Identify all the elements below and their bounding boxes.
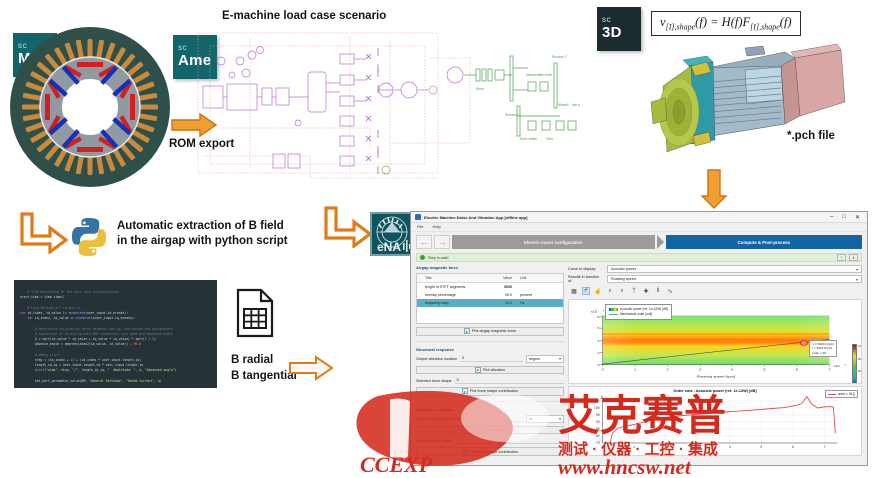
heatmap-legend: Acoustic power (ref. 1e-12W) [dB] Mechan… xyxy=(605,304,672,320)
zoom-in-icon[interactable]: ⌕ xyxy=(606,287,614,295)
close-button[interactable]: ✕ xyxy=(855,214,860,221)
table-header: Title Value Unit xyxy=(417,274,563,283)
pan-icon[interactable]: ☝ xyxy=(594,287,602,295)
heatmap-colorbar xyxy=(852,344,857,384)
table-row[interactable]: frequency step 10.0 Hz xyxy=(417,299,563,307)
python-caption-line2: in the airgap with python script xyxy=(117,234,288,249)
play-icon: ▸ xyxy=(464,328,470,334)
motor-3d-model xyxy=(645,40,865,160)
pch-down-arrow-icon xyxy=(700,168,728,210)
status-actions[interactable]: ? ℹ xyxy=(837,254,858,261)
svg-text:95: 95 xyxy=(596,413,600,417)
svg-text:100: 100 xyxy=(594,406,600,410)
results-in-function-of-row: Results in function of: Rotating speed ▾ xyxy=(568,275,862,283)
plot-airgap-label: Plot airgap magnetic force xyxy=(472,329,516,333)
b-tangential-label: B tangential xyxy=(231,368,297,384)
order-cuts-legend: order = 36 [] xyxy=(825,390,858,398)
structural-shape-label: Selected force shape xyxy=(416,379,452,383)
results-in-function-of-value: Rotating speed xyxy=(611,277,636,281)
amesim-schematic: Rotor Reducer 1 Intermediate shaft Reduc… xyxy=(190,28,580,188)
structural-section-title: Structural response xyxy=(416,347,564,352)
distance-from-stator-row: Distance from stator surface 1 m ▾ xyxy=(416,415,564,423)
results-in-function-of-select[interactable]: Rotating speed ▾ xyxy=(607,275,862,283)
svg-text:7: 7 xyxy=(828,368,830,371)
status-bar: Step is valid ? ℹ xyxy=(416,253,862,262)
order-cuts-ylabel: [] xyxy=(601,395,603,399)
distance-from-stator-label: Distance from stator surface xyxy=(416,417,463,421)
svg-text:3: 3 xyxy=(699,368,701,371)
equation-text: v[I],shape(f) = H(f)F[I],shape(f) xyxy=(660,15,792,29)
svg-text:1: 1 xyxy=(634,368,636,371)
legend-swatch-line xyxy=(609,314,618,315)
svg-text:Reducer 2: Reducer 2 xyxy=(552,55,567,59)
measure-icon[interactable]: ∿ xyxy=(666,287,674,295)
structural-shape-button-label: Plot force shape contribution xyxy=(470,389,518,393)
app-window: Electric Machine Noise And Vibration App… xyxy=(410,211,868,466)
distance-from-stator-input[interactable]: 1 xyxy=(466,415,523,422)
x-axis-exponent: x10 xyxy=(833,364,839,367)
legend-label: order = 36 [] xyxy=(838,392,855,396)
app-icon xyxy=(415,214,421,220)
order-cuts-canvas: 10510095 908580 75 012 345 67 [] xyxy=(569,393,861,449)
row-unit: Hz xyxy=(515,299,563,307)
svg-text:8: 8 xyxy=(597,315,599,318)
emachine-title: E-machine load case scenario xyxy=(222,10,386,22)
svg-text:5: 5 xyxy=(760,445,762,449)
play-icon: ▸ xyxy=(462,388,468,394)
row-title: overlap percentage xyxy=(417,291,487,299)
y-axis-exponent: x10 xyxy=(591,310,597,313)
results-in-function-of-label: Results in function of: xyxy=(568,275,604,283)
svg-text:Tires: Tires xyxy=(546,137,553,141)
app-title: Electric Machine Noise And Vibration App… xyxy=(424,215,527,220)
acoustic-shape-label: Selected force shape xyxy=(416,439,452,443)
colorbar-tick: 80 xyxy=(858,365,862,378)
acoustic-plot-force-shape-contribution-button[interactable]: ▸ Plot force shape contribution xyxy=(416,447,564,456)
order-36-line xyxy=(610,397,835,443)
airgap-section-title: Airgap magnetic force xyxy=(416,265,564,270)
header-title: Title xyxy=(417,274,487,282)
plot-airgap-magnetic-force-button[interactable]: ▸ Plot airgap magnetic force xyxy=(416,327,564,336)
logo-simcenter-3d: SC 3D xyxy=(597,7,641,51)
right-results-panel: Curve to display: Acoustic power ▾ Resul… xyxy=(568,265,862,456)
row-unit: percent xyxy=(515,291,563,299)
vibration-unit-select[interactable]: degree ▾ xyxy=(526,355,564,363)
heatmap-xlabel: Rotating speed [rpm] xyxy=(697,375,735,378)
chevron-down-icon: ▾ xyxy=(856,277,858,282)
svg-text:6: 6 xyxy=(597,327,599,330)
row-title: frequency step xyxy=(417,299,487,307)
svg-text:2: 2 xyxy=(597,351,599,354)
svg-text:3: 3 xyxy=(844,364,846,366)
svg-text:Reducer 1: Reducer 1 xyxy=(505,113,520,117)
colorbar-tick: 90 xyxy=(858,353,862,366)
svg-text:105: 105 xyxy=(594,399,600,403)
minimize-button[interactable]: – xyxy=(830,214,833,220)
legend-swatch-line xyxy=(828,394,836,395)
svg-text:7: 7 xyxy=(824,445,826,449)
acoustic-unit-value: m xyxy=(529,417,532,421)
acoustic-unit-select[interactable]: m ▾ xyxy=(526,415,564,423)
step-electric-motor-configuration[interactable]: Electric motor configuration xyxy=(452,235,655,249)
menu-help[interactable]: Help xyxy=(432,224,440,230)
rom-export-label: ROM export xyxy=(169,138,234,150)
plot-vibration-button[interactable]: ▸ Plot vibration xyxy=(416,366,564,375)
data-table-file-icon xyxy=(235,288,275,338)
svg-text:test bench load: test bench load xyxy=(572,103,580,107)
colorbar-ticks: 100 90 80 70 xyxy=(858,340,862,384)
select-icon[interactable]: ⌿ xyxy=(582,287,590,295)
svg-text:85: 85 xyxy=(596,427,600,431)
vibration-unit-value: degree xyxy=(529,357,540,361)
legend-entry: Mechanical order [null] xyxy=(609,312,668,317)
data-cursor-tooltip: x = 6649.0 [rpm] f = 4010.0 [Hz] order =… xyxy=(809,340,837,357)
svg-text:0: 0 xyxy=(602,445,604,449)
data-cursor-marker xyxy=(800,341,807,346)
curve-to-display-label: Curve to display: xyxy=(568,267,604,271)
chevron-down-icon: ▾ xyxy=(559,356,561,361)
app-body: Airgap magnetic force Title Value Unit l… xyxy=(411,264,867,460)
svg-text:2: 2 xyxy=(665,445,667,449)
svg-text:0: 0 xyxy=(601,368,603,371)
svg-text:Drive shafts: Drive shafts xyxy=(520,137,537,141)
output-vibration-location-input[interactable]: 0 xyxy=(460,355,523,362)
step-compute-post-process[interactable]: Compute & Post-process xyxy=(666,235,862,249)
info-button[interactable]: ℹ xyxy=(849,254,858,261)
step-separator-icon xyxy=(657,235,664,249)
chevron-down-icon: ▾ xyxy=(559,416,561,421)
b-field-to-app-arrow-icon xyxy=(288,355,334,381)
acoustic-shape-button-label: Plot force shape contribution xyxy=(470,450,518,454)
svg-text:3: 3 xyxy=(696,445,698,449)
acoustic-selected-force-shape-row: Selected force shape 0 xyxy=(416,437,564,444)
colorbar-tick: 70 xyxy=(858,378,862,385)
structural-shape-input[interactable]: 0 xyxy=(455,377,564,384)
svg-text:Intermediate shaft: Intermediate shaft xyxy=(526,73,552,77)
output-vibration-location-label: Output vibration location xyxy=(416,357,457,361)
curve-to-display-select[interactable]: Acoustic power ▾ xyxy=(607,265,862,273)
play-icon: ▸ xyxy=(462,449,468,455)
grid-icon[interactable]: ▦ xyxy=(570,287,578,295)
row-unit xyxy=(515,283,563,291)
svg-text:4: 4 xyxy=(731,368,733,371)
app-titlebar: Electric Machine Noise And Vibration App… xyxy=(411,212,867,223)
forward-button[interactable]: → xyxy=(434,235,450,249)
svg-text:Wheels: Wheels xyxy=(558,103,569,107)
transfer-function-equation: v[I],shape(f) = H(f)F[I],shape(f) xyxy=(651,11,801,36)
svg-text:0: 0 xyxy=(597,363,599,366)
row-title: length of STFT segments xyxy=(417,283,487,291)
wizard-nav: ← → Electric motor configuration Compute… xyxy=(411,232,867,251)
cursor-icon[interactable]: † xyxy=(630,287,638,295)
chevron-down-icon: ▾ xyxy=(856,267,858,272)
airgap-parameter-table: Title Value Unit length of STFT segments… xyxy=(416,273,564,324)
svg-text:75: 75 xyxy=(596,441,600,445)
python-hook-arrow-icon xyxy=(20,212,68,254)
pch-file-label: *.pch file xyxy=(787,130,835,142)
logo-3d-name: 3D xyxy=(602,25,641,41)
python-caption: Automatic extraction of B field in the a… xyxy=(117,219,288,249)
back-button[interactable]: ← xyxy=(416,235,432,249)
menu-file[interactable]: File xyxy=(417,224,423,230)
motor-cross-section xyxy=(8,25,173,190)
window-controls[interactable]: – □ ✕ xyxy=(830,214,863,221)
row-value[interactable]: 90.0 xyxy=(487,291,515,299)
svg-text:2: 2 xyxy=(667,368,669,371)
svg-text:1: 1 xyxy=(633,445,635,449)
python-code-block: # Time monitoring of the main loop initi… xyxy=(14,280,217,388)
header-value: Value xyxy=(487,274,515,282)
axis-icon[interactable]: ‖ xyxy=(654,287,662,295)
play-icon: ▸ xyxy=(475,427,481,433)
colorbar-tick: 100 xyxy=(858,340,862,353)
structural-selected-force-shape-row: Selected force shape 0 xyxy=(416,377,564,384)
play-icon: ▸ xyxy=(475,367,481,373)
b-field-labels: B radial B tangential xyxy=(231,352,297,384)
order-cuts-plot[interactable]: Order cuts - Acoustic power (ref. 1e-12W… xyxy=(568,386,862,456)
curve-to-display-row: Curve to display: Acoustic power ▾ xyxy=(568,265,862,273)
python-logo-icon xyxy=(68,216,110,258)
structural-plot-force-shape-contribution-button[interactable]: ▸ Plot force shape contribution xyxy=(416,387,564,396)
header-unit: Unit xyxy=(515,274,563,282)
table-row[interactable]: overlap percentage 90.0 percent xyxy=(417,291,563,299)
svg-text:4: 4 xyxy=(729,445,731,449)
svg-text:4: 4 xyxy=(597,339,599,342)
legend-label: Mechanical order [null] xyxy=(620,312,652,317)
table-row[interactable]: length of STFT segments 3000 xyxy=(417,283,563,291)
status-text: Step is valid xyxy=(428,256,448,260)
svg-text:Rotor: Rotor xyxy=(476,87,485,91)
plot-toolbar[interactable]: ▦ ⌿ ☝ ⌕ ⌕ † ✚ ‖ ∿ xyxy=(568,285,862,297)
plot-acoustic-button[interactable]: ▸ Plot acoustic xyxy=(416,426,564,435)
status-ok-icon xyxy=(420,255,425,260)
maximize-button[interactable]: □ xyxy=(842,214,846,220)
app-menubar[interactable]: File Help xyxy=(411,223,867,232)
rom-export-arrow-icon xyxy=(170,112,218,138)
b-radial-label: B radial xyxy=(231,352,297,368)
python-caption-line1: Automatic extraction of B field xyxy=(117,219,288,234)
help-button[interactable]: ? xyxy=(837,254,846,261)
acoustic-shape-input[interactable]: 0 xyxy=(455,437,564,444)
row-value[interactable]: 10.0 xyxy=(487,299,515,307)
svg-text:6: 6 xyxy=(792,445,794,449)
tooltip-order: order = 36 xyxy=(812,351,834,355)
plot-acoustic-label: Plot acoustic xyxy=(483,428,505,432)
output-vibration-location-row: Output vibration location 0 degree ▾ xyxy=(416,355,564,363)
row-value[interactable]: 3000 xyxy=(487,283,515,291)
curve-to-display-value: Acoustic power xyxy=(611,267,636,271)
logo-ena-text: eNA xyxy=(377,240,401,254)
logo-ena: eNA xyxy=(370,212,414,256)
legend-swatch-colormap xyxy=(609,308,618,311)
crosshair-icon[interactable]: ✚ xyxy=(642,287,650,295)
plot-vibration-label: Plot vibration xyxy=(483,368,505,372)
svg-text:80: 80 xyxy=(596,434,600,438)
acoustic-section-title: Acoustic response xyxy=(416,407,564,412)
zoom-out-icon[interactable]: ⌕ xyxy=(618,287,626,295)
svg-text:6: 6 xyxy=(796,368,798,371)
svg-text:5: 5 xyxy=(763,368,765,371)
svg-text:90: 90 xyxy=(596,420,600,424)
ena-hook-arrow-icon xyxy=(324,206,372,248)
heatmap-plot[interactable]: Acoustic power (ref. 1e-12W) [dB] Mechan… xyxy=(568,299,862,384)
left-settings-panel: Airgap magnetic force Title Value Unit l… xyxy=(416,265,564,456)
